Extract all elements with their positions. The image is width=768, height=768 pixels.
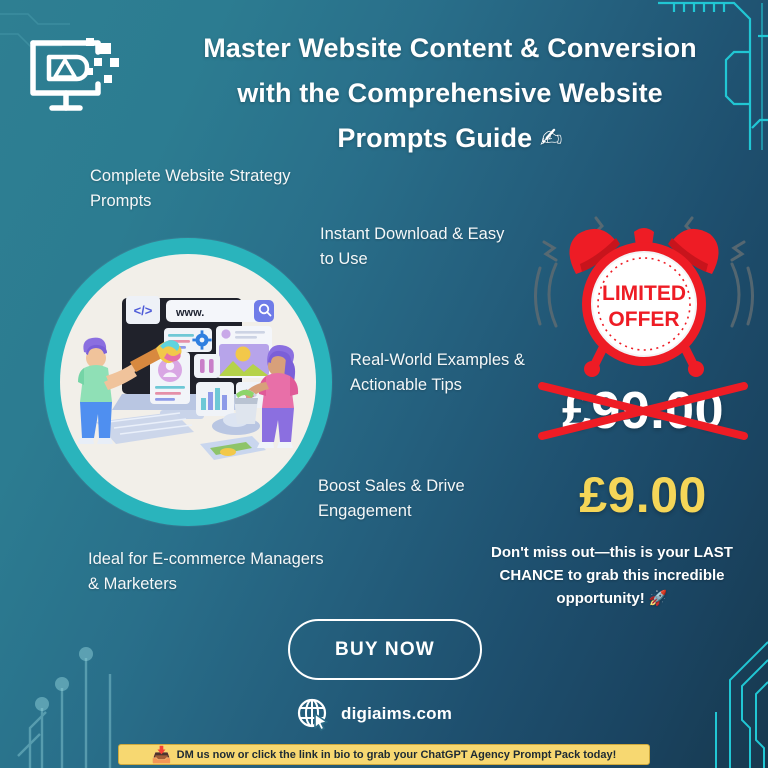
badge-line-1: LIMITED: [602, 282, 686, 305]
alarm-clock-icon: LIMITED OFFER: [534, 212, 754, 382]
website-url: digiaims.com: [341, 704, 452, 724]
page-title: Master Website Content & Conversion with…: [150, 26, 750, 161]
illustration-disc: </> www.: [60, 254, 316, 510]
feature-caption-download: Instant Download & Easy to Use: [320, 222, 520, 272]
feature-caption-strategy: Complete Website Strategy Prompts: [90, 164, 340, 214]
feature-caption-audience: Ideal for E-commerce Managers & Marketer…: [88, 547, 328, 597]
badge-line-2: OFFER: [608, 308, 679, 331]
website-link[interactable]: digiaims.com: [296, 696, 496, 732]
buy-now-button[interactable]: BUY NOW: [288, 619, 482, 680]
footer-text: DM us now or click the link in bio to gr…: [177, 749, 617, 761]
feature-caption-examples: Real-World Examples & Actionable Tips: [350, 348, 560, 398]
new-price: £9.00: [528, 466, 758, 524]
promo-poster: Master Website Content & Conversion with…: [0, 0, 768, 768]
inbox-tray-emoji: 📥: [152, 745, 172, 764]
svg-text:www.: www.: [175, 307, 204, 319]
old-price-block: £99.00: [530, 378, 756, 444]
buy-now-label: BUY NOW: [335, 639, 435, 661]
rocket-emoji: 🚀: [649, 589, 668, 607]
urgency-text: Don't miss out—this is your LAST CHANCE …: [466, 541, 758, 610]
urgency-copy: Don't miss out—this is your LAST CHANCE …: [491, 544, 733, 607]
globe-cursor-icon: [296, 697, 330, 731]
circuit-decoration-bottom-right: [638, 608, 768, 768]
headline-line-1: Master Website Content & Conversion: [150, 26, 750, 71]
writing-hand-emoji: ✍: [540, 123, 563, 154]
feature-caption-sales: Boost Sales & Drive Engagement: [318, 474, 508, 524]
hero-illustration: </> www.: [44, 238, 332, 526]
headline-line-2: with the Comprehensive Website: [150, 71, 750, 116]
circuit-decoration-bottom-left: [0, 588, 130, 768]
website-building-scene: </> www.: [60, 254, 316, 510]
headline-line-3: Prompts Guide: [337, 123, 532, 153]
headline-line-3-row: Prompts Guide ✍: [150, 116, 750, 161]
brand-logo-icon: [22, 22, 134, 122]
footer-banner[interactable]: 📥 DM us now or click the link in bio to …: [118, 744, 650, 765]
svg-text:</>: </>: [134, 303, 153, 318]
strikethrough-cross-icon: [530, 378, 756, 444]
